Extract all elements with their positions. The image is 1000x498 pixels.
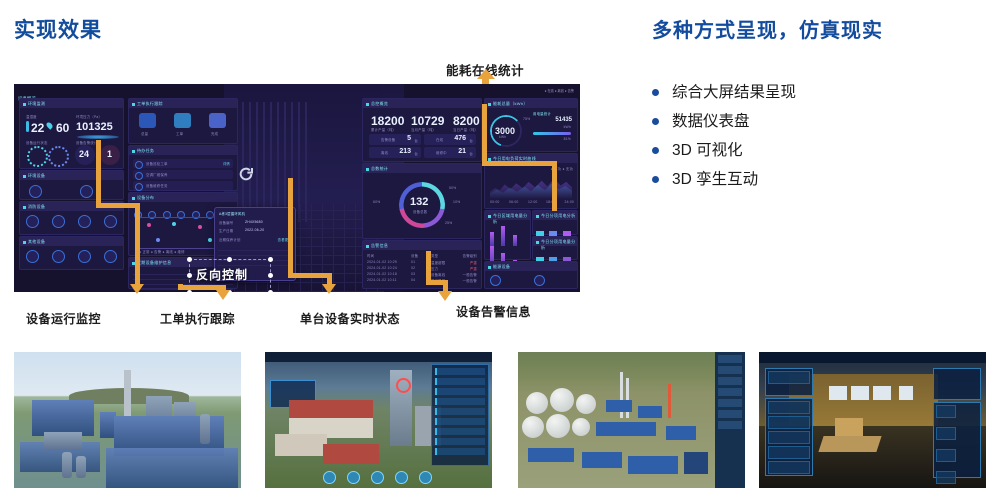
stat-row: 在线 476 台 — [424, 134, 476, 145]
side-percent: 81% — [564, 137, 571, 141]
list-item[interactable]: 空调厂维保养 — [133, 170, 233, 179]
thumb2-tool-icon[interactable] — [395, 471, 408, 484]
list-item[interactable]: 设备维修任务 — [133, 181, 233, 190]
cell-time: 2024-01-02 10:29 — [367, 260, 397, 264]
callout-label-3: 单台设备实时状态 — [300, 310, 400, 327]
device-icon[interactable] — [78, 250, 91, 263]
workorder-stat-icon — [139, 113, 156, 128]
panel-title: 今日区域用电量分析 — [485, 211, 530, 220]
thumb3-right-panel[interactable] — [715, 352, 745, 488]
axis-tick: 24:00 — [565, 200, 575, 204]
bullet-label: 3D 孪生互动 — [672, 172, 758, 188]
connector-3-arrow-icon — [322, 284, 336, 294]
thumb1-shed — [44, 432, 82, 450]
env-temperature: 22 — [31, 121, 44, 135]
panel-workorder[interactable]: 工单执行跟踪 总量 工单 完成 — [128, 98, 238, 144]
list-item: 3D 可视化 — [652, 136, 982, 165]
bullet-dot-icon — [652, 89, 659, 96]
panel-asset-total[interactable]: 总数统计 132 设备总数 60% 50% 10% 25% — [362, 163, 482, 239]
thumb3-tank — [522, 416, 544, 438]
thumb4-right-panel-grid[interactable] — [933, 402, 981, 478]
map-legend: ● 正常 ● 告警 ● 离线 ● 维修 — [139, 249, 185, 254]
thumb2-right-panel[interactable] — [431, 364, 489, 466]
callout-label-4: 设备告警信息 — [456, 303, 531, 320]
panel-row — [768, 431, 810, 444]
kpi-day-output: 8200 — [453, 114, 480, 128]
env-label-temp-hum: 温湿度 — [26, 114, 37, 119]
thumb4-window — [873, 386, 891, 400]
side-title: 用电量统计 — [533, 111, 551, 116]
panel-overview[interactable]: 总控概览 18200 累计产量（吨） 10729 当月产量（吨） 8200 当日… — [362, 98, 482, 162]
stat-alarm: 1 — [100, 145, 120, 165]
thumb2-tool-icon[interactable] — [323, 471, 336, 484]
resize-handle[interactable] — [187, 290, 192, 292]
thumbnail-refinery-aerial[interactable] — [518, 352, 745, 488]
connector-5-vert-b — [552, 161, 557, 211]
popup-title: A栋3层循环风机 — [219, 211, 245, 216]
table-row[interactable]: 2024-01-02 10:24 02 压力 严重 — [367, 266, 477, 271]
panel-row — [768, 416, 810, 429]
slide-root: 实现效果 多种方式呈现，仿真现实 综合大屏结果呈现 数据仪表盘 3D 可视化 3… — [0, 0, 1000, 498]
panel-row — [435, 438, 485, 445]
axis-tick: 06:00 — [509, 200, 519, 204]
resize-handle[interactable] — [268, 290, 273, 292]
task-icon — [135, 172, 143, 180]
device-icon[interactable] — [78, 215, 91, 228]
gauge-capacity — [48, 146, 69, 167]
panel-other-devices[interactable]: 其他设备 — [19, 236, 124, 270]
resize-handle[interactable] — [187, 257, 192, 262]
resize-handle[interactable] — [268, 273, 273, 278]
thumb3-unit — [582, 452, 622, 468]
stat-value: 213 — [399, 148, 411, 155]
stat-label: 告警设备 — [381, 137, 395, 142]
thumb1-tank — [76, 456, 86, 478]
panel-title: 环境设备 — [20, 171, 123, 180]
panel-cell — [936, 427, 956, 440]
col-level: 告警级别 — [463, 253, 477, 258]
connector-2-arrow-icon — [216, 290, 230, 300]
thumb3-unit — [596, 422, 656, 436]
gauge-percent: 75% — [523, 117, 530, 121]
device-icon[interactable] — [104, 250, 117, 263]
bullet-label: 3D 可视化 — [672, 143, 743, 159]
alarm-count: 1 — [107, 149, 112, 159]
cell-level: 严重 — [470, 260, 477, 265]
connector-1-vert-b — [135, 203, 140, 285]
panel-row — [768, 371, 810, 384]
stat-unit: 台 — [414, 138, 418, 143]
thumb1-structure — [32, 400, 94, 436]
thumb2-tool-icon[interactable] — [371, 471, 384, 484]
task-label: 空调厂维保养 — [146, 172, 168, 177]
thumb2-alarm-marker[interactable] — [396, 378, 411, 393]
callout-label-1: 设备运行监控 — [26, 310, 101, 327]
panel-title: 告警信息 — [363, 241, 481, 250]
col-type: 类型 — [431, 253, 438, 258]
thumb2-tool-icon[interactable] — [347, 471, 360, 484]
workorder-stat-icon — [209, 113, 226, 128]
task-detail-button[interactable]: 详情 — [223, 161, 230, 166]
thumb3-tank — [546, 414, 570, 438]
thumb1-structure — [106, 448, 238, 488]
thumbnail-indoor-monitor[interactable] — [759, 352, 986, 488]
bullet-dot-icon — [652, 176, 659, 183]
connector-3-vert-a — [288, 178, 293, 278]
kpi-total-output-label: 累计产量（吨） — [371, 127, 396, 132]
bar — [501, 226, 505, 246]
connector-1-arrow-icon — [130, 284, 144, 294]
pressure-visual — [77, 135, 119, 139]
panel-row — [435, 418, 485, 425]
panel-row — [768, 401, 810, 414]
thumb3-tank — [550, 388, 574, 412]
dashboard-header-legend: ● 在线 ● 离线 ● 告警 — [545, 88, 574, 93]
workorder-stat-a: 总量 — [141, 131, 148, 136]
stat-value: 21 — [458, 148, 466, 155]
panel-title: 待办任务 — [129, 146, 237, 155]
stat-label: 维修中 — [436, 150, 447, 155]
panel-title: 总数统计 — [363, 164, 481, 173]
device-icon[interactable] — [490, 275, 501, 286]
env-label-pressure: 环境压力（Pa） — [76, 114, 102, 119]
page-title-left: 实现效果 — [14, 14, 102, 44]
thumb4-ramp — [818, 436, 881, 452]
connector-1-vert-a — [96, 140, 101, 208]
axis-tick: 00:00 — [490, 200, 500, 204]
map-marker — [208, 238, 212, 242]
panel-row — [718, 355, 742, 363]
cell-type: 温度超限 — [431, 260, 445, 265]
table-header: 时间 设备 类型 告警级别 — [367, 253, 477, 258]
side-value: 51435 — [555, 117, 572, 123]
table-row[interactable]: 2024-01-02 10:11 04 振动异常 一般告警 — [367, 278, 477, 283]
donut-center-value: 132 — [410, 196, 428, 208]
panel-title: 环境监测 — [20, 99, 123, 108]
gauge-unit: kWh — [499, 135, 506, 139]
panel-title: 其他设备 — [20, 237, 123, 246]
panel-row — [768, 461, 810, 474]
workorder-stat-b: 工单 — [176, 131, 183, 136]
popup-plan-label: 近期保养计划 — [219, 237, 241, 242]
connector-5-horiz-a — [482, 161, 557, 166]
callout-label-reverse-control: 反向控制 — [196, 266, 248, 283]
panel-alarm-list[interactable]: 告警信息 时间 设备 类型 告警级别 2024-01-02 10:29 01 温… — [362, 240, 482, 289]
bar — [513, 235, 517, 246]
panel-title: 能耗总量（kWh） — [485, 99, 577, 108]
thumb4-window — [851, 386, 869, 400]
stat-label: 在线 — [436, 137, 443, 142]
cell-level: 一般告警 — [463, 278, 477, 283]
kpi-month-output: 10729 — [411, 114, 444, 128]
popup-device-label: 设备编号 — [219, 220, 233, 225]
thumb3-unit — [628, 456, 678, 474]
panel-env-devices[interactable]: 环境设备 — [19, 170, 124, 200]
device-icon[interactable] — [52, 215, 65, 228]
panel-cell — [936, 449, 956, 462]
stat-row: 离线 213 台 — [369, 147, 421, 158]
connector-3-horiz — [288, 273, 332, 278]
thumb2-roof — [323, 444, 379, 464]
resize-handle[interactable] — [227, 257, 232, 262]
panel-title: 设备分布 — [129, 193, 237, 202]
list-item: 3D 孪生互动 — [652, 165, 982, 194]
thumb3-unit — [684, 452, 708, 474]
cell-device: 02 — [411, 266, 415, 270]
thumb2-wall — [275, 434, 327, 456]
donut-center-label: 设备总数 — [413, 209, 427, 214]
thumb4-window — [899, 386, 913, 400]
device-icon[interactable] — [104, 215, 117, 228]
panel-region-power[interactable]: 今日区域用电量分析 — [484, 210, 531, 260]
thermometer-icon — [26, 121, 29, 132]
axis-tick: 12:00 — [528, 200, 538, 204]
bullet-dot-icon — [652, 147, 659, 154]
bullet-label: 数据仪表盘 — [672, 114, 750, 130]
thumb3-unit — [606, 400, 632, 412]
cell-device: 04 — [411, 278, 415, 282]
droplet-icon — [45, 121, 53, 129]
running-count: 24 — [79, 149, 89, 159]
device-icon[interactable] — [26, 250, 39, 263]
gauge-energy — [27, 146, 48, 167]
thumb4-left-panel-list[interactable] — [765, 398, 813, 476]
connector-5-vert-a — [482, 104, 487, 166]
panel-row — [718, 366, 742, 374]
thumb3-tank — [572, 418, 590, 436]
side-progress-bar — [533, 132, 571, 135]
cell-type: 设备离线 — [431, 272, 445, 277]
cell-time: 2024-01-02 10:24 — [367, 266, 397, 270]
panel-row — [718, 410, 742, 418]
bullet-label: 综合大屏结果呈现 — [672, 85, 796, 101]
bullet-dot-icon — [652, 118, 659, 125]
dashboard-header: 设备概览 ● 在线 ● 离线 ● 告警 — [18, 87, 576, 96]
rotate-icon[interactable] — [238, 166, 254, 182]
donut-seg-2: 10% — [453, 200, 460, 204]
panel-row — [435, 368, 485, 375]
panel-item-power[interactable]: 今日分项用电分析 — [532, 210, 578, 235]
thumbnail-plant-3d[interactable] — [14, 352, 241, 488]
panel-cell — [936, 405, 956, 418]
panel-row — [435, 408, 485, 415]
thumb3-chimney — [668, 384, 671, 418]
bar-chart — [490, 226, 530, 250]
thumb1-tank — [62, 452, 72, 478]
thumbnail-digital-twin[interactable] — [265, 352, 492, 488]
device-icon[interactable] — [29, 185, 42, 198]
col-device: 设备 — [411, 253, 418, 258]
thumb3-tank — [576, 394, 596, 414]
thumb2-roof — [289, 400, 373, 418]
cell-level: 一般告警 — [463, 272, 477, 277]
cell-level: 严重 — [470, 266, 477, 271]
panel-row — [435, 428, 485, 435]
list-item: 综合大屏结果呈现 — [652, 78, 982, 107]
panel-cell — [936, 471, 956, 484]
stat-row: 维修中 21 台 — [424, 147, 476, 158]
popup-device-code: ZH4X5680 — [245, 220, 263, 224]
donut-seg-4: 60% — [373, 200, 380, 204]
task-icon — [135, 183, 143, 191]
panel-title: 能源设备 — [485, 262, 577, 271]
map-marker — [198, 225, 202, 229]
kpi-month-output-label: 当月产量（吨） — [411, 127, 436, 132]
device-icon[interactable] — [26, 215, 39, 228]
table-row[interactable]: 2024-01-02 10:18 03 设备离线 一般告警 — [367, 272, 477, 277]
panel-title: 工单执行跟踪 — [129, 99, 237, 108]
thumb3-chimney — [626, 378, 629, 418]
env-humidity: 60 — [56, 121, 69, 135]
list-item[interactable]: 设备巡检工单 详情 — [133, 159, 233, 168]
donut-seg-1: 50% — [449, 186, 456, 190]
table-row[interactable]: 2024-01-02 10:29 01 温度超限 严重 — [367, 260, 477, 265]
cell-time: 2024-01-02 10:11 — [367, 278, 397, 282]
resize-handle[interactable] — [268, 257, 273, 262]
map-marker — [147, 223, 151, 227]
thumb2-tool-icon[interactable] — [419, 471, 432, 484]
callout-label-2: 工单执行跟踪 — [160, 310, 235, 327]
kpi-day-output-label: 当日产量（吨） — [453, 127, 478, 132]
device-icon[interactable] — [80, 185, 93, 198]
kpi-total-output: 18200 — [371, 114, 404, 128]
map-marker — [172, 222, 176, 226]
cell-type: 压力 — [431, 266, 438, 271]
connector-4-arrow-icon — [438, 291, 452, 301]
device-icon[interactable] — [52, 250, 65, 263]
page-title-right: 多种方式呈现，仿真现实 — [652, 14, 883, 43]
env-label-run-status: 设备运行状态 — [26, 140, 48, 145]
cell-device: 03 — [411, 272, 415, 276]
thumb4-window — [829, 386, 847, 400]
env-pressure: 101325 — [76, 121, 113, 133]
panel-row — [435, 398, 485, 405]
side-unit: kWh — [564, 125, 571, 129]
panel-row — [718, 421, 742, 429]
connector-1-horiz — [96, 203, 140, 208]
panel-item-power-2[interactable]: 今日分项用电量分析 — [532, 236, 578, 260]
thumb3-tank — [526, 392, 548, 414]
panel-row — [435, 448, 485, 455]
thumb3-unit — [528, 448, 574, 462]
thumb3-unit — [666, 426, 696, 440]
device-icon[interactable] — [534, 275, 545, 286]
thumb4-pallet — [835, 418, 863, 438]
stat-value: 476 — [454, 135, 466, 142]
panel-row — [435, 378, 485, 385]
popup-date-label: 生产日期 — [219, 228, 233, 233]
stat-value: 5 — [407, 135, 411, 142]
stat-unit: 台 — [414, 151, 418, 156]
thumb3-unit — [638, 406, 662, 418]
stat-label: 离线 — [381, 150, 388, 155]
stat-row: 告警设备 5 台 — [369, 134, 421, 145]
stat-unit: 台 — [469, 138, 473, 143]
popup-date-value: 2022-06-20 — [245, 228, 264, 232]
panel-energy-gauge[interactable]: 能耗总量（kWh） 3000 kWh 75% 用电量统计 51435 kWh 8… — [484, 98, 578, 152]
map-marker — [156, 238, 160, 242]
task-icon — [135, 161, 143, 169]
task-label: 设备维修任务 — [146, 183, 168, 188]
panel-environment[interactable]: 环境监测 温湿度 环境压力（Pa） 22 60 101325 设备运行状态 设备… — [19, 98, 124, 169]
thumb4-top-nav[interactable] — [759, 352, 986, 363]
thumb4-left-panel-top[interactable] — [765, 368, 813, 396]
thumb1-tank — [200, 414, 210, 444]
panel-title: 总控概览 — [363, 99, 481, 108]
donut-seg-3: 25% — [445, 221, 452, 225]
panel-row — [718, 377, 742, 385]
resize-handle[interactable] — [187, 273, 192, 278]
feature-bullet-list: 综合大屏结果呈现 数据仪表盘 3D 可视化 3D 孪生互动 — [652, 78, 982, 194]
panel-row — [435, 388, 485, 395]
panel-row — [718, 399, 742, 407]
panel-todo-tasks[interactable]: 待办任务 设备巡检工单 详情 空调厂维保养 设备维修任务 — [128, 145, 238, 191]
panel-energy-devices[interactable]: 能源设备 — [484, 261, 578, 289]
cell-time: 2024-01-02 10:18 — [367, 272, 397, 276]
thumb2-top-nav[interactable] — [265, 352, 492, 362]
panel-row — [768, 446, 810, 459]
panel-row — [718, 388, 742, 396]
task-label: 设备巡检工单 — [146, 161, 168, 166]
panel-title: 今日分项用电量分析 — [533, 237, 577, 246]
panel-title: 今日分项用电分析 — [533, 211, 577, 220]
col-time: 时间 — [367, 253, 374, 258]
workorder-stat-icon — [174, 113, 191, 128]
cell-device: 01 — [411, 260, 415, 264]
workorder-stat-c: 完成 — [211, 131, 218, 136]
stat-unit: 台 — [469, 151, 473, 156]
stat-running: 24 — [75, 145, 95, 165]
bar — [490, 232, 494, 246]
list-item: 数据仪表盘 — [652, 107, 982, 136]
thumb4-right-panel-map[interactable] — [933, 368, 981, 400]
